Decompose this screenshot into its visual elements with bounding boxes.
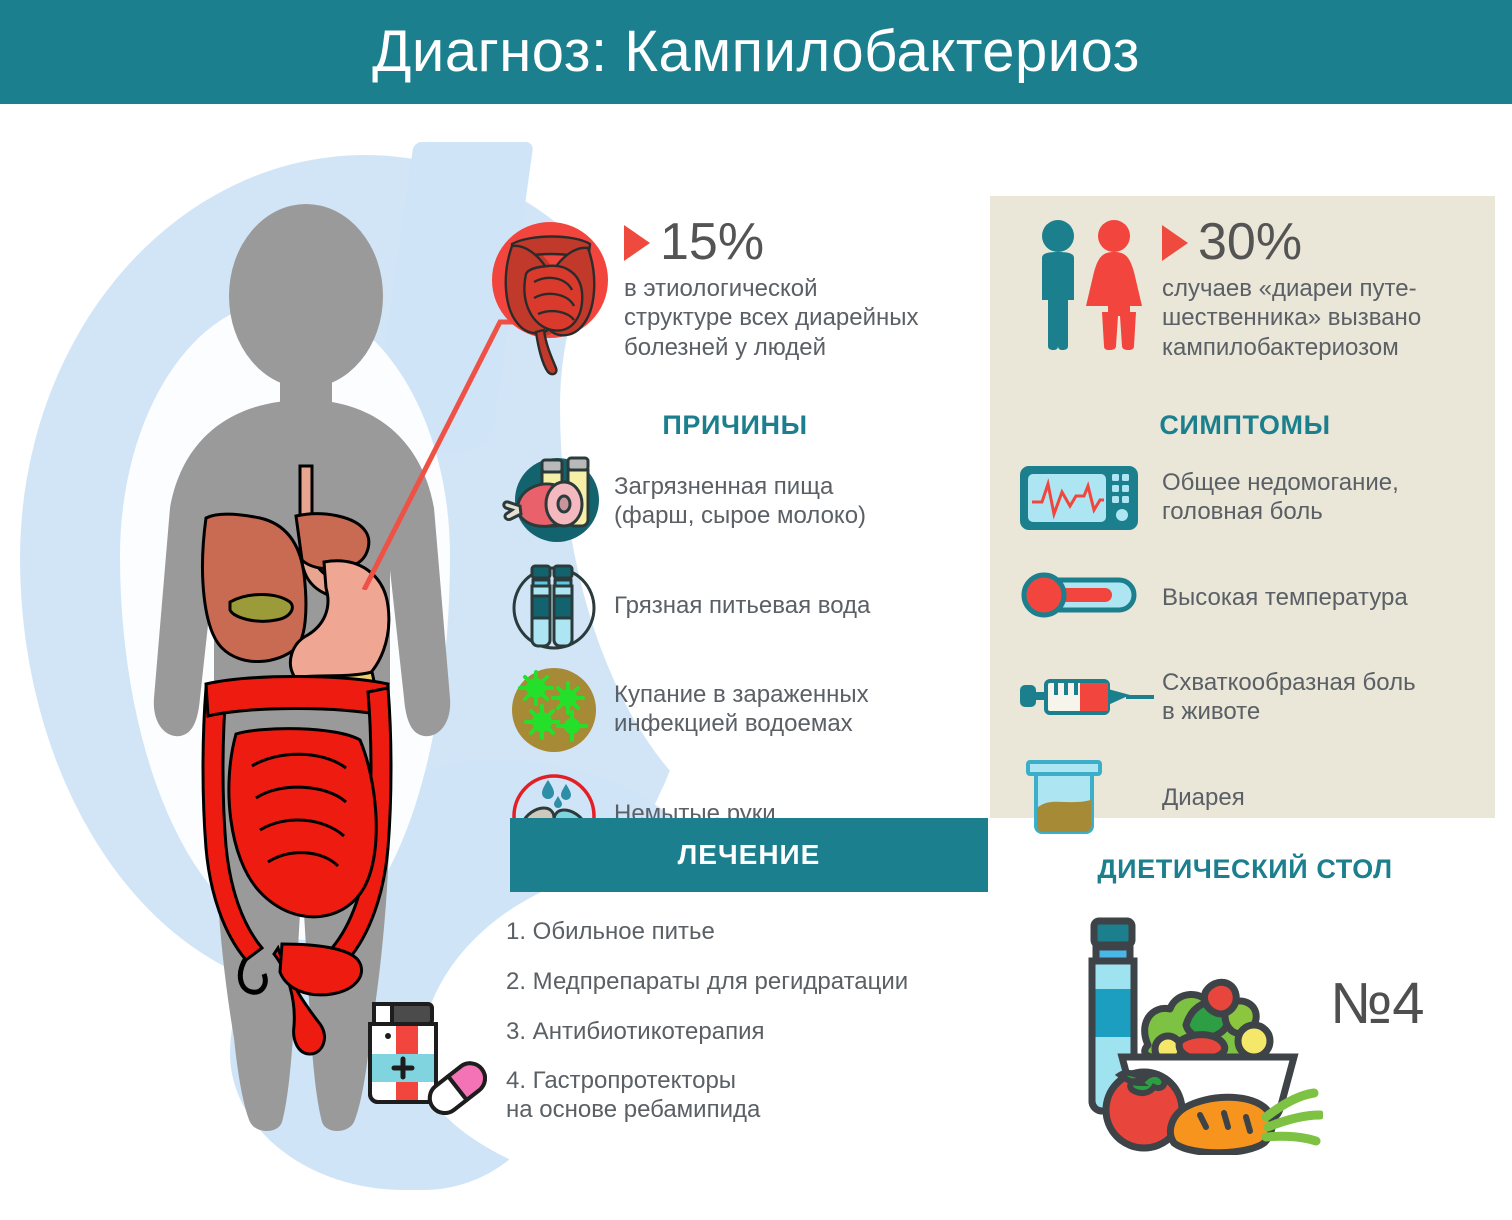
sample-cup-icon [1010, 758, 1162, 838]
list-item: Схваткообразная боль в животе [1010, 648, 1490, 748]
stat-travelers-body: 30% случаев «диареи путе- шественника» в… [1162, 216, 1421, 362]
list-item: 3. Антибиотикотерапия [506, 1018, 1006, 1047]
list-item: Купание в зараженных инфекцией водоемах [494, 658, 984, 762]
list-item-label: Общее недомогание, головная боль [1162, 469, 1399, 527]
symptoms-title: СИМПТОМЫ [1010, 410, 1480, 441]
triangle-right-icon [1162, 225, 1188, 261]
intestine-icon [490, 216, 610, 381]
stat-travelers-value-row: 30% [1162, 216, 1421, 268]
list-item: Высокая температура [1010, 548, 1490, 648]
list-item: 1. Обильное питье [506, 918, 1006, 947]
syringe-icon [1010, 673, 1162, 723]
list-item: Загрязненная пища (фарш, сырое молоко) [494, 450, 984, 554]
man-woman-icon [1030, 216, 1148, 357]
list-item-label: Диарея [1162, 784, 1245, 813]
treatment-banner: ЛЕЧЕНИЕ [510, 818, 988, 892]
list-item-label: Высокая температура [1162, 584, 1408, 613]
list-item: Грязная питьевая вода [494, 554, 984, 658]
page-header: Диагноз: Кампилобактериоз [0, 0, 1512, 104]
stat-travelers-description: случаев «диареи путе- шественника» вызва… [1162, 274, 1421, 362]
contaminated-food-icon [494, 452, 614, 552]
stat-etiology-body: 15% в этиологической структуре всех диар… [624, 216, 919, 362]
healthy-food-icon [1058, 905, 1323, 1155]
list-item-label: Грязная питьевая вода [614, 592, 870, 621]
symptoms-list: Общее недомогание, головная боль Высокая… [1010, 448, 1490, 848]
list-item-label: Схваткообразная боль в животе [1162, 669, 1416, 727]
heart-monitor-icon [1010, 462, 1162, 534]
stat-etiology-description: в этиологической структуре всех диарейны… [624, 274, 919, 362]
stat-etiology-value-row: 15% [624, 216, 919, 268]
diet-number: №4 [1330, 975, 1424, 1033]
stat-etiology: 15% в этиологической структуре всех диар… [490, 216, 980, 381]
list-item-label: Купание в зараженных инфекцией водоемах [614, 681, 869, 739]
list-item-label: Загрязненная пища (фарш, сырое молоко) [614, 473, 866, 531]
stat-etiology-value: 15% [660, 216, 764, 268]
infected-water-germs-icon [494, 660, 614, 760]
thermometer-icon [1010, 570, 1162, 626]
diet-title: ДИЕТИЧЕСКИЙ СТОЛ [1010, 854, 1480, 885]
triangle-right-icon [624, 225, 650, 261]
treatment-list: 1. Обильное питье 2. Медпрепараты для ре… [506, 918, 1006, 1146]
list-item: Общее недомогание, головная боль [1010, 448, 1490, 548]
human-body-illustration [110, 178, 500, 1138]
treatment-banner-label: ЛЕЧЕНИЕ [678, 839, 821, 871]
causes-title: ПРИЧИНЫ [490, 410, 980, 441]
causes-list: Загрязненная пища (фарш, сырое молоко) Г… [494, 450, 984, 866]
page-title: Диагноз: Кампилобактериоз [372, 23, 1140, 81]
list-item: Диарея [1010, 748, 1490, 848]
list-item: 4. Гастропротекторы на основе ребамипида [506, 1067, 1006, 1125]
stat-travelers: 30% случаев «диареи путе- шественника» в… [1030, 216, 1500, 362]
dirty-water-icon [494, 556, 614, 656]
medicine-bottle-icon [348, 996, 488, 1116]
stat-travelers-value: 30% [1198, 216, 1302, 268]
list-item: 2. Медпрепараты для регидратации [506, 968, 1006, 997]
